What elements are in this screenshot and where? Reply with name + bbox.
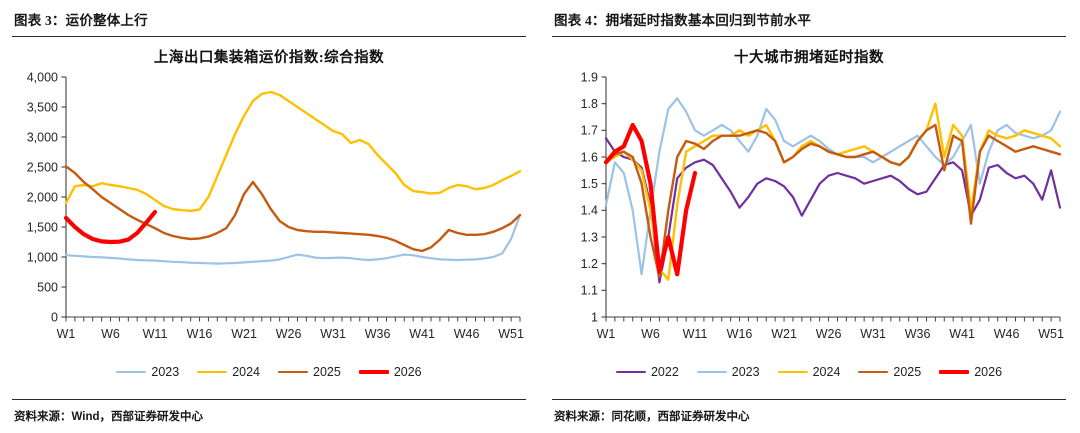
x-tick-label: W21: [231, 327, 257, 341]
x-tick-label: W46: [994, 327, 1020, 341]
figure-4-bottom-rule: [552, 399, 1066, 400]
legend-swatch-2024: [778, 371, 808, 374]
legend-swatch-2025: [278, 371, 308, 374]
figure-3-label: 图表 3：运价整体上行: [12, 0, 526, 29]
source-suffix: ，西部证券研发中心: [646, 411, 750, 423]
x-tick-label: W46: [454, 327, 480, 341]
y-tick-label: 1.7: [581, 124, 598, 138]
x-tick-label: W1: [597, 327, 616, 341]
x-tick-label: W11: [683, 327, 708, 341]
figure-3-top-rule: [12, 36, 526, 37]
y-tick-label: 4,000: [27, 70, 58, 84]
chart-3-svg: 05001,0001,5002,0002,5003,0003,5004,000W…: [12, 69, 528, 361]
legend-swatch-2022: [616, 371, 646, 374]
x-tick-label: W26: [276, 327, 302, 341]
source-provider: Wind: [72, 411, 100, 423]
x-tick-label: W16: [727, 327, 753, 341]
figure-3-source: 资料来源：Wind，西部证券研发中心: [14, 408, 203, 424]
figure-panel-4: 图表 4：拥堵延时指数基本回归到节前水平 十大城市拥堵延时指数 11.11.21…: [540, 0, 1080, 433]
series-line-2023: [66, 215, 520, 264]
figures-row: 图表 3：运价整体上行 上海出口集装箱运价指数:综合指数 05001,0001,…: [0, 0, 1080, 433]
y-tick-label: 1.1: [581, 284, 598, 298]
y-tick-label: 1.2: [581, 257, 598, 271]
figure-4-source: 资料来源：同花顺，西部证券研发中心: [554, 408, 750, 424]
series-line-2026: [66, 212, 155, 242]
y-tick-label: 1.8: [581, 97, 598, 111]
legend-swatch-2023: [697, 371, 727, 374]
y-tick-label: 1: [591, 310, 598, 324]
source-prefix: 资料来源：: [14, 411, 72, 423]
legend-swatch-2026: [939, 370, 969, 375]
chart-4-title: 十大城市拥堵延时指数: [552, 46, 1066, 67]
x-tick-label: W26: [816, 327, 842, 341]
figure-4-label: 图表 4：拥堵延时指数基本回归到节前水平: [552, 0, 1066, 29]
legend-swatch-2026: [359, 370, 389, 375]
x-tick-label: W16: [187, 327, 213, 341]
y-tick-label: 1.6: [581, 150, 598, 164]
x-tick-label: W11: [143, 327, 168, 341]
x-tick-label: W1: [57, 327, 76, 341]
figure-3-bottom-rule: [12, 399, 526, 400]
y-tick-label: 1.5: [581, 177, 598, 191]
y-tick-label: 1,000: [27, 250, 58, 264]
x-tick-label: W31: [860, 327, 886, 341]
y-tick-label: 1.3: [581, 230, 598, 244]
y-tick-label: 1.9: [581, 70, 598, 84]
x-tick-label: W31: [320, 327, 346, 341]
y-tick-label: 1,500: [27, 220, 58, 234]
x-tick-label: W36: [365, 327, 391, 341]
figure-4-top-rule: [552, 36, 1066, 37]
x-tick-label: W41: [409, 327, 435, 341]
figure-panel-3: 图表 3：运价整体上行 上海出口集装箱运价指数:综合指数 05001,0001,…: [0, 0, 540, 433]
source-prefix: 资料来源：: [554, 411, 612, 423]
y-tick-label: 1.4: [581, 204, 598, 218]
chart-3-plot: 05001,0001,5002,0002,5003,0003,5004,000W…: [12, 69, 526, 369]
y-tick-label: 0: [51, 310, 58, 324]
y-tick-label: 2,500: [27, 160, 58, 174]
chart-4-plot: 11.11.21.31.41.51.61.71.81.9W1W6W11W16W2…: [552, 69, 1066, 369]
series-line-2024: [66, 92, 520, 211]
x-tick-label: W51: [1038, 327, 1064, 341]
x-tick-label: W41: [949, 327, 975, 341]
y-tick-label: 500: [37, 280, 58, 294]
series-line-2023: [606, 98, 1060, 274]
source-provider: 同花顺: [612, 411, 647, 423]
series-line-2025: [66, 166, 520, 251]
legend-swatch-2024: [197, 371, 227, 374]
chart-3-title: 上海出口集装箱运价指数:综合指数: [12, 46, 526, 67]
y-tick-label: 2,000: [27, 190, 58, 204]
x-tick-label: W6: [101, 327, 120, 341]
x-tick-label: W6: [641, 327, 660, 341]
legend-swatch-2025: [858, 371, 888, 374]
x-tick-label: W36: [905, 327, 931, 341]
x-tick-label: W51: [498, 327, 524, 341]
legend-swatch-2023: [116, 371, 146, 374]
y-tick-label: 3,500: [27, 100, 58, 114]
chart-4-svg: 11.11.21.31.41.51.61.71.81.9W1W6W11W16W2…: [552, 69, 1068, 361]
x-tick-label: W21: [771, 327, 797, 341]
y-tick-label: 3,000: [27, 130, 58, 144]
source-suffix: ，西部证券研发中心: [100, 411, 204, 423]
